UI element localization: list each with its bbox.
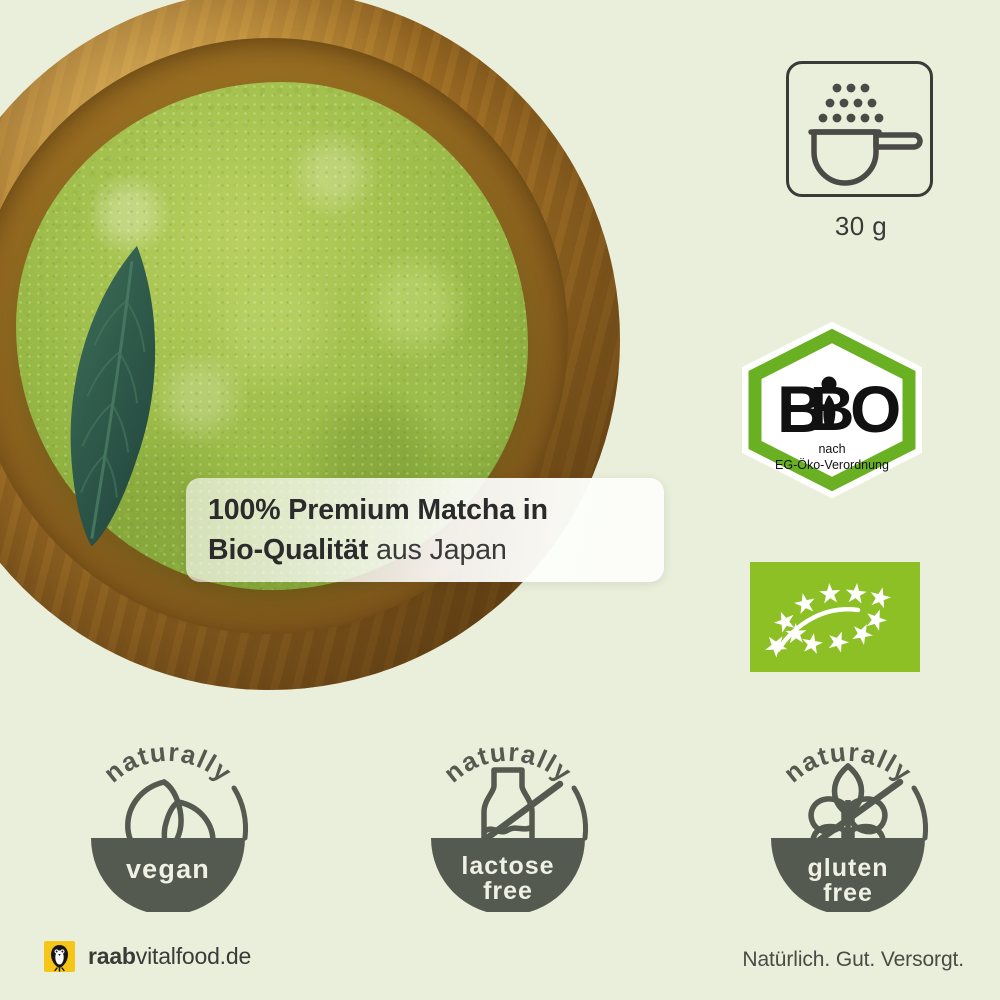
badge-gluten-label-1: gluten xyxy=(808,854,889,882)
bio-seal-subtitle-2: EG-Öko-Verordnung xyxy=(775,458,889,472)
scoop-weight-label: 30 g xyxy=(786,211,936,242)
badge-lactose-label-2: free xyxy=(483,877,533,905)
scoop-icon-frame xyxy=(786,61,933,197)
badge-gluten-arc-line xyxy=(914,788,926,838)
svg-text:B: B xyxy=(777,372,822,446)
svg-text:O: O xyxy=(850,372,899,446)
headline-line-2-bold: Bio-Qualität xyxy=(208,534,368,566)
product-photo-matcha-bowl xyxy=(0,0,620,690)
badge-naturally-lactose-free: naturally lactose free xyxy=(408,726,608,912)
bio-seal: B B B O nach EG-Öko-Verordnung xyxy=(737,322,927,498)
measuring-scoop-icon xyxy=(789,64,930,194)
eu-organic-logo xyxy=(750,562,920,672)
headline-overlay: 100% Premium Matcha in Bio-Qualität aus … xyxy=(186,478,664,582)
brand-name-bold: raab xyxy=(88,943,136,969)
footer-tagline: Natürlich. Gut. Versorgt. xyxy=(742,948,964,972)
headline-line-2-regular: aus Japan xyxy=(368,534,506,566)
badge-lactose-arc-line xyxy=(574,788,586,838)
raab-owl-logo-icon xyxy=(44,941,75,972)
badge-naturally-vegan: naturally vegan xyxy=(68,726,268,912)
headline-line-1-text: 100% Premium Matcha in xyxy=(208,494,548,526)
headline-line-2: Bio-Qualität aus Japan xyxy=(208,530,642,570)
badge-vegan-label: vegan xyxy=(126,854,210,884)
badge-lactose-arc-text: naturally xyxy=(438,737,579,789)
badge-gluten-label-2: free xyxy=(823,879,873,907)
badge-lactose-label-1: lactose xyxy=(461,852,554,880)
badge-vegan-arc-line xyxy=(234,788,246,838)
badge-naturally-gluten-free: naturally gluten free xyxy=(748,726,948,912)
brand-name-thin: vitalfood.de xyxy=(136,943,251,969)
bio-seal-subtitle-1: nach xyxy=(818,442,845,456)
badge-vegan-arc-text: naturally xyxy=(98,737,239,789)
brand-logo[interactable]: raabvitalfood.de xyxy=(44,941,251,972)
product-marketing-graphic: 100% Premium Matcha in Bio-Qualität aus … xyxy=(0,0,1000,1000)
headline-line-1: 100% Premium Matcha in xyxy=(208,490,642,530)
brand-wordmark: raabvitalfood.de xyxy=(88,943,251,970)
serving-size-block: 30 g xyxy=(786,61,936,242)
